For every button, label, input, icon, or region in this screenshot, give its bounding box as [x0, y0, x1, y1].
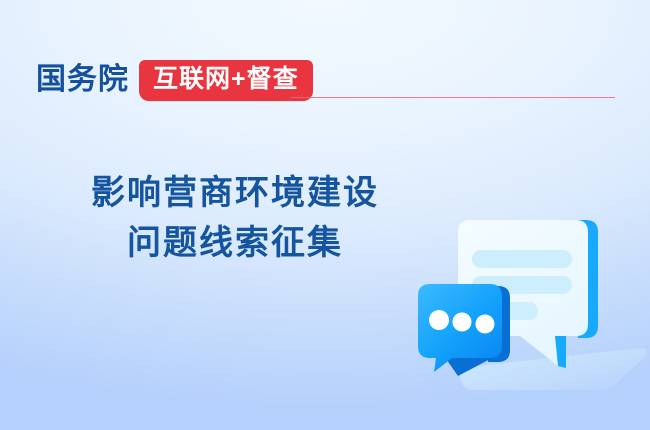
brand-divider-rule [290, 97, 615, 98]
chat-bubbles-illustration [400, 198, 650, 430]
brand-badge: 互联网+督查 [139, 60, 313, 101]
chat-bubbles-svg [400, 198, 650, 430]
typing-dot-1 [429, 310, 449, 330]
typing-dot-2 [453, 313, 472, 332]
brand-name: 国务院 [36, 65, 129, 95]
back-bubble-line-1 [472, 250, 572, 268]
campaign-banner: 国务院 互联网+督查 影响营商环境建设 问题线索征集 [0, 0, 650, 430]
brand-row: 国务院 互联网+督查 [36, 57, 313, 103]
typing-dot-3 [476, 315, 495, 334]
